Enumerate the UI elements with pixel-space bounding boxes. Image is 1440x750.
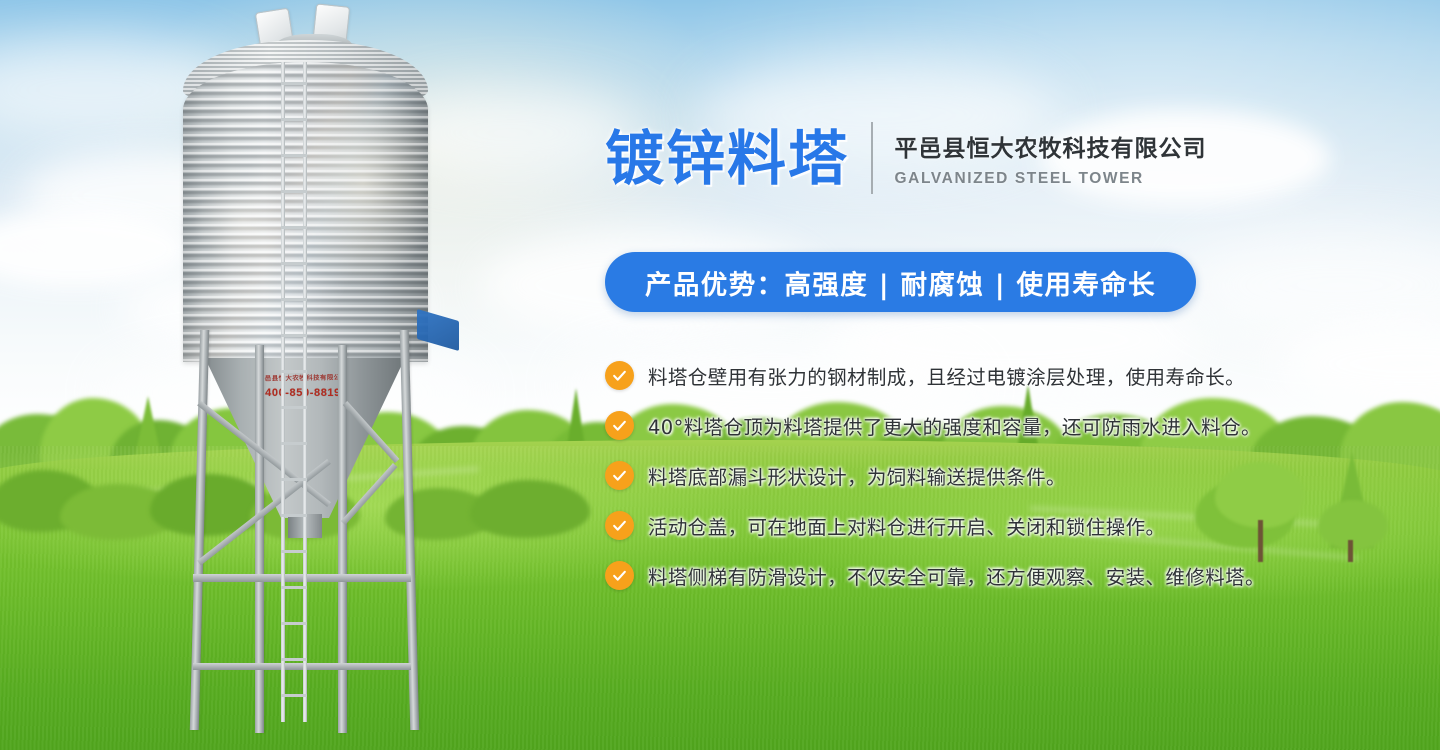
check-circle-icon bbox=[605, 511, 634, 540]
check-circle-icon bbox=[605, 411, 634, 440]
check-circle-icon bbox=[605, 561, 634, 590]
list-item: 活动仓盖，可在地面上对料仓进行开启、关闭和锁住操作。 bbox=[605, 508, 1345, 542]
list-item: 料塔仓壁用有张力的钢材制成，且经过电镀涂层处理，使用寿命长。 bbox=[605, 358, 1345, 392]
check-circle-icon bbox=[605, 361, 634, 390]
list-item: 40°料塔仓顶为料塔提供了更大的强度和容量，还可防雨水进入料仓。 bbox=[605, 408, 1345, 442]
title-divider bbox=[871, 122, 873, 194]
company-name: 平邑县恒大农牧科技有限公司 bbox=[895, 129, 1207, 163]
feature-list: 料塔仓壁用有张力的钢材制成，且经过电镀涂层处理，使用寿命长。 40°料塔仓顶为料… bbox=[605, 358, 1345, 608]
page-title: 镀锌料塔 bbox=[605, 129, 849, 188]
banner-content: 镀锌料塔 平邑县恒大农牧科技有限公司 GALVANIZED STEEL TOWE… bbox=[600, 0, 1360, 750]
feature-text: 活动仓盖，可在地面上对料仓进行开启、关闭和锁住操作。 bbox=[648, 511, 1165, 540]
galvanized-silo-image: 平邑县恒大农牧科技有限公司 400-850-8819 bbox=[95, 0, 515, 750]
list-item: 料塔侧梯有防滑设计，不仅安全可靠，还方便观察、安装、维修料塔。 bbox=[605, 558, 1345, 592]
silo-side-ladder bbox=[281, 62, 307, 722]
product-advantage-badge: 产品优势：高强度 | 耐腐蚀 | 使用寿命长 bbox=[605, 252, 1196, 312]
feature-text: 料塔仓壁用有张力的钢材制成，且经过电镀涂层处理，使用寿命长。 bbox=[648, 361, 1245, 390]
check-circle-icon bbox=[605, 461, 634, 490]
feature-text: 料塔侧梯有防滑设计，不仅安全可靠，还方便观察、安装、维修料塔。 bbox=[648, 561, 1265, 590]
headline-row: 镀锌料塔 平邑县恒大农牧科技有限公司 GALVANIZED STEEL TOWE… bbox=[605, 122, 1207, 194]
promo-banner: 平邑县恒大农牧科技有限公司 400-850-8819 bbox=[0, 0, 1440, 750]
feature-text: 料塔底部漏斗形状设计，为饲料输送提供条件。 bbox=[648, 461, 1066, 490]
feature-text: 40°料塔仓顶为料塔提供了更大的强度和容量，还可防雨水进入料仓。 bbox=[648, 411, 1261, 440]
english-subtitle: GALVANIZED STEEL TOWER bbox=[895, 170, 1207, 188]
silo-leg-4 bbox=[400, 330, 419, 730]
silo-leg-1 bbox=[190, 330, 209, 730]
brand-block: 平邑县恒大农牧科技有限公司 GALVANIZED STEEL TOWER bbox=[895, 129, 1207, 188]
silo-leg-2 bbox=[255, 345, 264, 733]
list-item: 料塔底部漏斗形状设计，为饲料输送提供条件。 bbox=[605, 458, 1345, 492]
